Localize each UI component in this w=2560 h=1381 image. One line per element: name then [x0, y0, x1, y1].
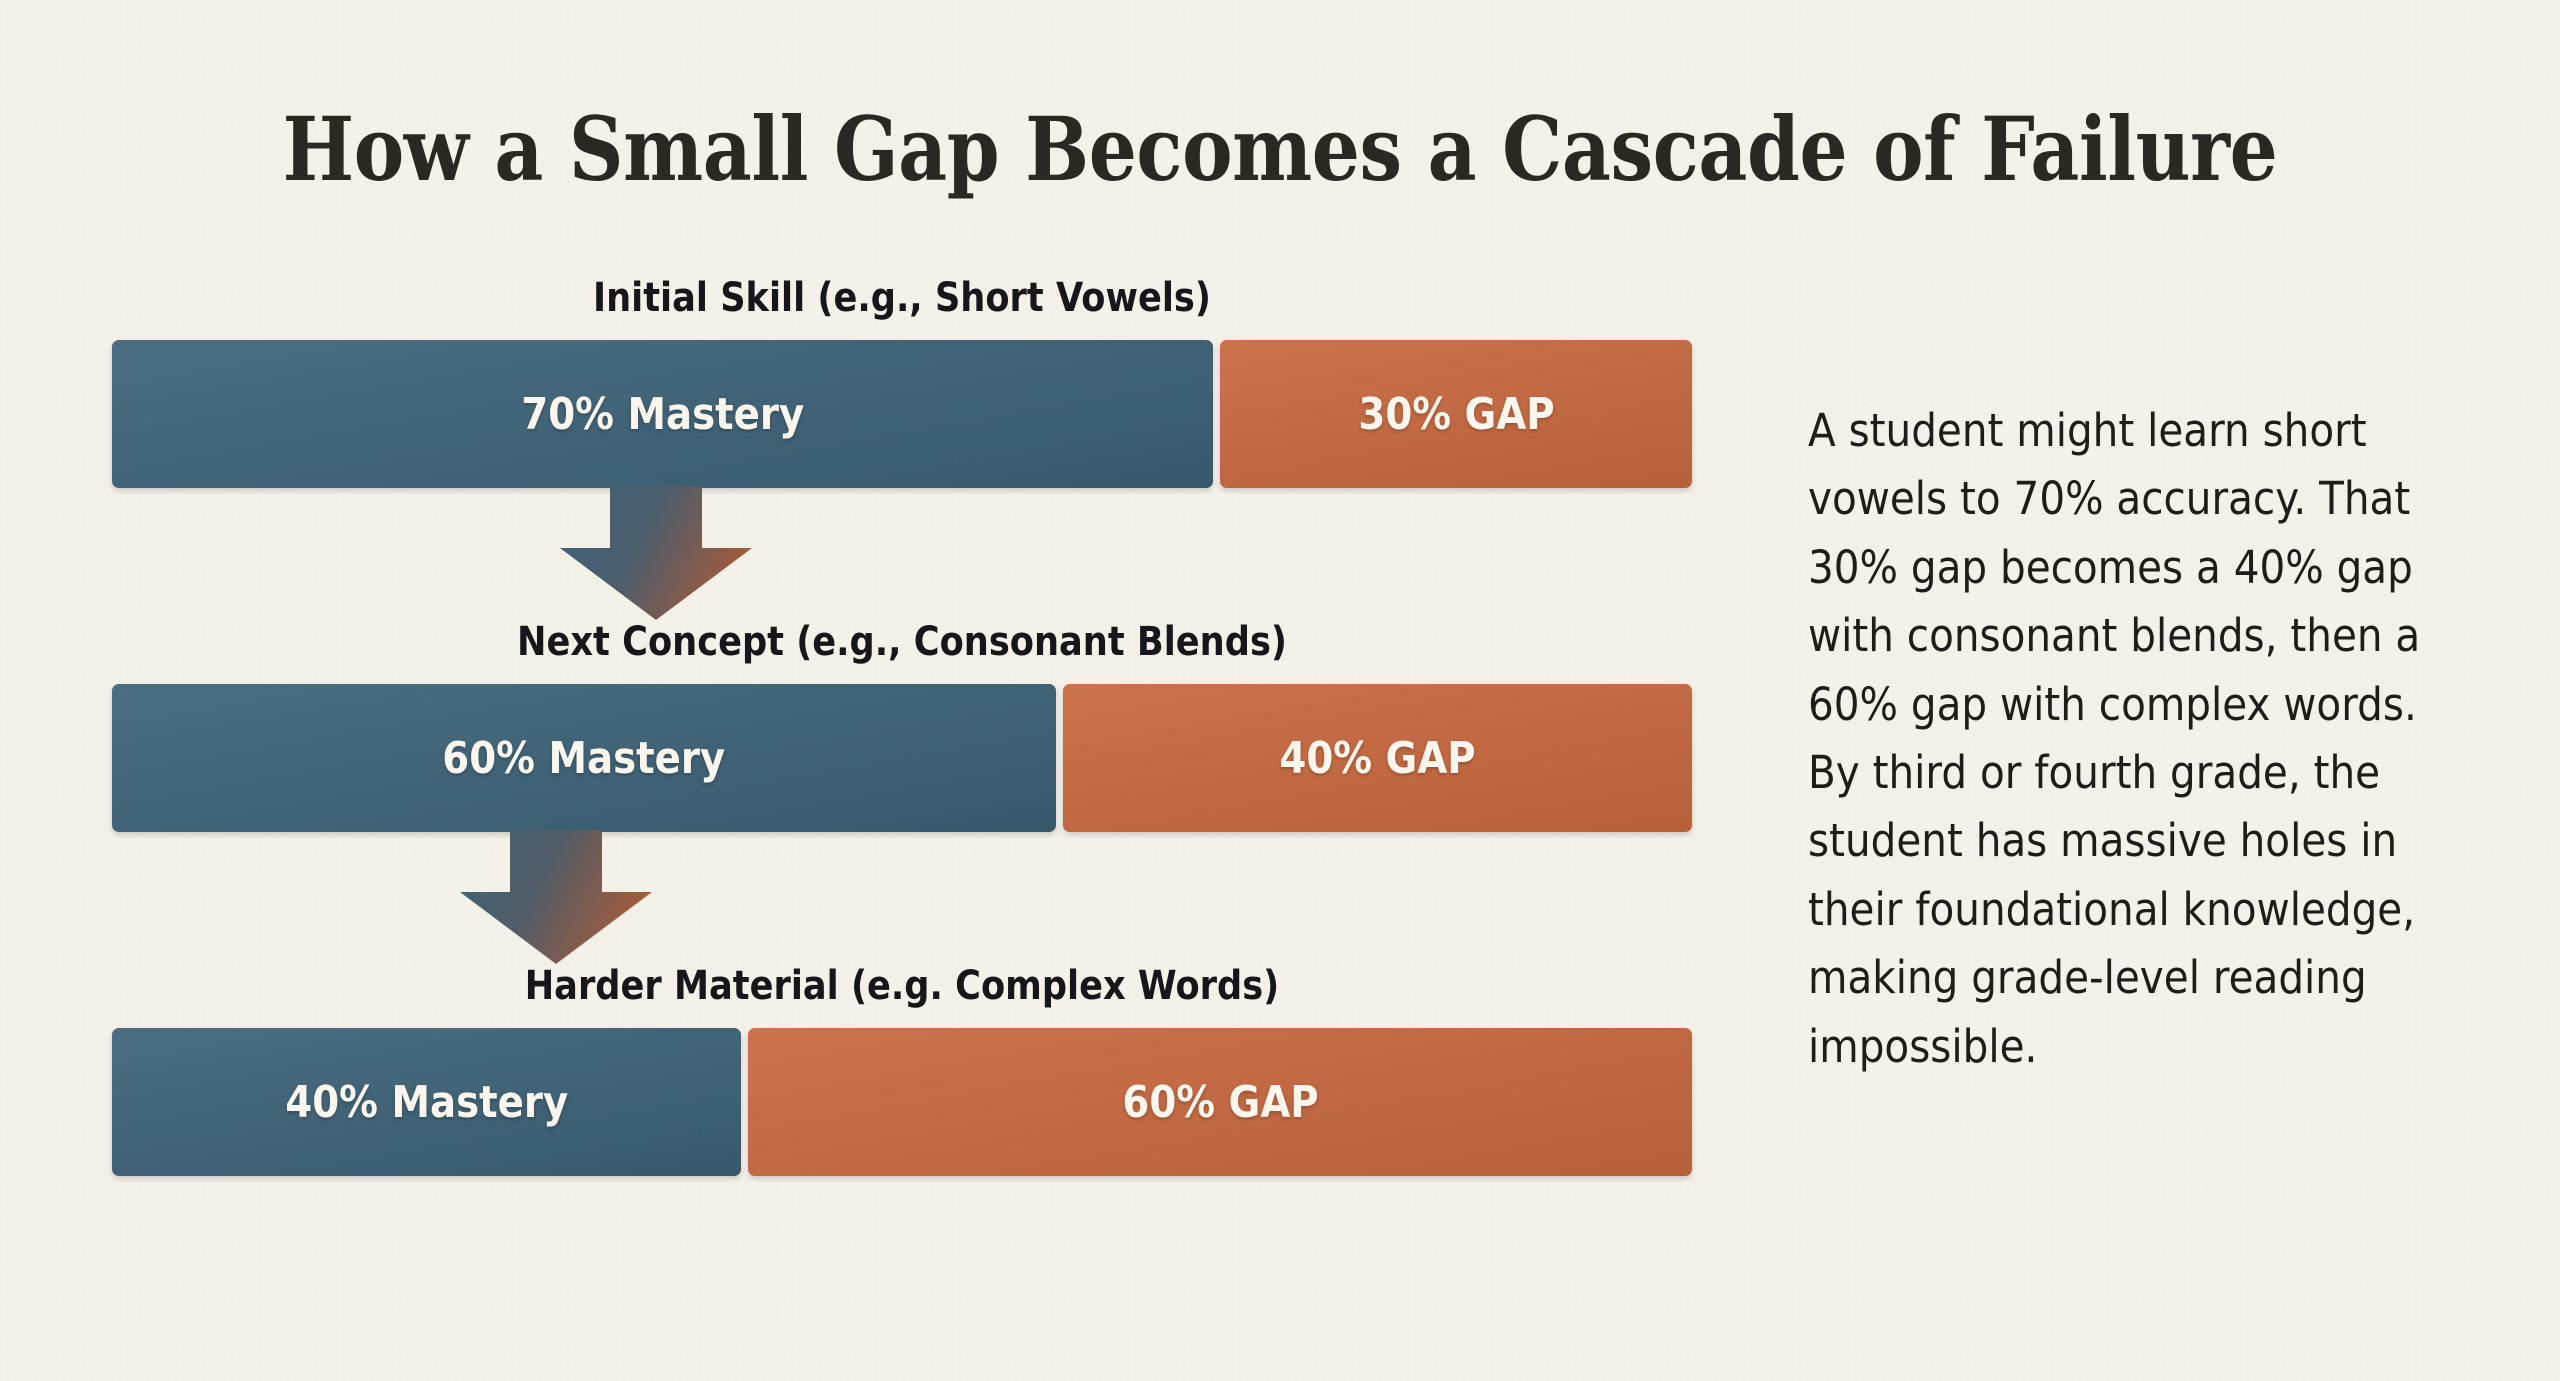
cascade-stage-1: Initial Skill (e.g., Short Vowels) 70% M…: [112, 276, 1692, 488]
page-title: How a Small Gap Becomes a Cascade of Fai…: [179, 103, 2381, 195]
stage-label-1: Initial Skill (e.g., Short Vowels): [207, 276, 1597, 320]
cascade-diagram: Initial Skill (e.g., Short Vowels) 70% M…: [112, 276, 1692, 1176]
gap-label-2: 40% GAP: [1279, 733, 1475, 784]
stage-label-3: Harder Material (e.g. Complex Words): [207, 964, 1597, 1008]
gap-label-3: 60% GAP: [1122, 1077, 1318, 1128]
explainer-paragraph: A student might learn short vowels to 70…: [1808, 397, 2438, 1081]
infographic-page: How a Small Gap Becomes a Cascade of Fai…: [0, 0, 2560, 1381]
cascade-stage-3: Harder Material (e.g. Complex Words) 40%…: [112, 964, 1692, 1176]
cascade-arrow-2: [112, 832, 1692, 964]
mastery-segment-1: 70% Mastery: [112, 340, 1213, 488]
stage-bar-2: 60% Mastery 40% GAP: [112, 684, 1692, 832]
mastery-label-2: 60% Mastery: [442, 733, 725, 784]
down-arrow-icon: [112, 830, 1692, 964]
gap-segment-2: 40% GAP: [1063, 684, 1692, 832]
cascade-stage-2: Next Concept (e.g., Consonant Blends) 60…: [112, 620, 1692, 832]
gap-segment-3: 60% GAP: [748, 1028, 1692, 1176]
cascade-arrow-1: [112, 488, 1692, 620]
stage-label-2: Next Concept (e.g., Consonant Blends): [207, 620, 1597, 664]
mastery-label-3: 40% Mastery: [285, 1077, 568, 1128]
gap-segment-1: 30% GAP: [1220, 340, 1692, 488]
mastery-label-1: 70% Mastery: [521, 389, 804, 440]
mastery-segment-2: 60% Mastery: [112, 684, 1056, 832]
stage-bar-3: 40% Mastery 60% GAP: [112, 1028, 1692, 1176]
stage-bar-1: 70% Mastery 30% GAP: [112, 340, 1692, 488]
mastery-segment-3: 40% Mastery: [112, 1028, 741, 1176]
gap-label-1: 30% GAP: [1358, 389, 1554, 440]
down-arrow-icon: [112, 486, 1692, 620]
